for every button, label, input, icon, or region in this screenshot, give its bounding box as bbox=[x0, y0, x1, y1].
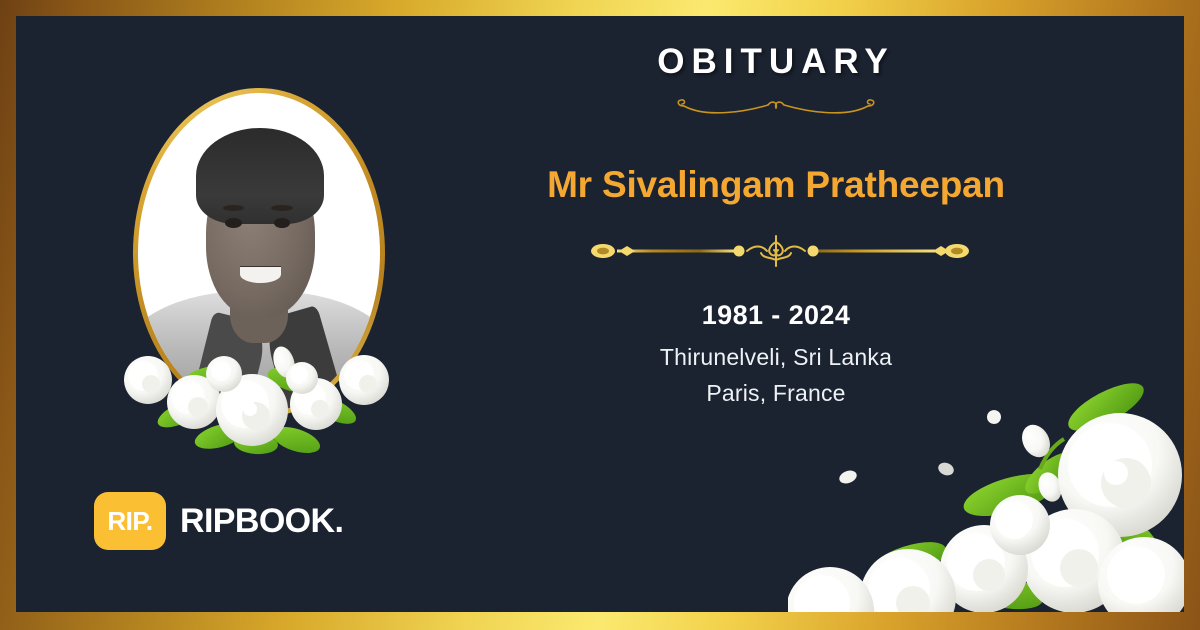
title-flourish-ornament bbox=[668, 94, 884, 120]
page-title: OBITUARY bbox=[456, 42, 1096, 82]
portrait-oval-frame bbox=[133, 88, 385, 418]
portrait-photo bbox=[138, 93, 380, 413]
place-line-origin: Thirunelveli, Sri Lanka bbox=[456, 344, 1096, 371]
corner-flower-cluster bbox=[788, 383, 1184, 612]
corner-blossoms bbox=[788, 413, 1184, 612]
deceased-name: Mr Sivalingam Pratheepan bbox=[456, 164, 1096, 206]
floating-petals bbox=[837, 409, 1001, 486]
portrait-block bbox=[120, 88, 410, 458]
logo-badge: RIP. bbox=[94, 492, 166, 550]
logo-badge-text: RIP. bbox=[107, 506, 152, 537]
corner-leaves bbox=[865, 383, 1166, 612]
place-line-residence: Paris, France bbox=[456, 380, 1096, 407]
portrait-smile bbox=[240, 266, 281, 283]
life-dates: 1981 - 2024 bbox=[456, 300, 1096, 331]
name-divider-ornament bbox=[581, 234, 971, 268]
ripbook-logo[interactable]: RIP. RIPBOOK. bbox=[94, 492, 343, 550]
obituary-card: OBITUARY Mr Sivalingam Pratheepan bbox=[0, 0, 1200, 630]
obituary-content: OBITUARY Mr Sivalingam Pratheepan bbox=[456, 42, 1096, 407]
portrait-eye-left bbox=[225, 218, 242, 228]
portrait-hair bbox=[196, 128, 324, 224]
corner-buds bbox=[1017, 420, 1066, 505]
logo-wordmark: RIPBOOK. bbox=[180, 502, 343, 541]
card-inner-panel: OBITUARY Mr Sivalingam Pratheepan bbox=[16, 16, 1184, 612]
